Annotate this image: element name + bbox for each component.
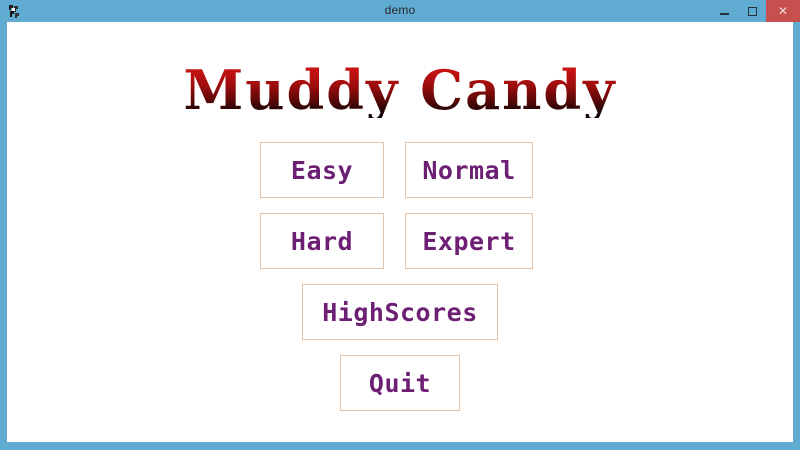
application-window: demo ✕ Muddy Candy Easy Normal Hard Expe…: [0, 0, 800, 450]
window-icon: [6, 3, 22, 19]
menu-button-quit[interactable]: Quit: [340, 355, 460, 411]
menu-button-label: Hard: [291, 227, 353, 256]
menu-button-label: Easy: [291, 156, 353, 185]
maximize-icon: [748, 7, 757, 16]
menu-button-normal[interactable]: Normal: [405, 142, 533, 198]
window-title: demo: [0, 3, 800, 17]
minimize-button[interactable]: [710, 0, 738, 22]
maximize-button[interactable]: [738, 0, 766, 22]
close-button[interactable]: ✕: [766, 0, 800, 22]
menu-button-hard[interactable]: Hard: [260, 213, 384, 269]
menu-button-label: Quit: [369, 369, 431, 398]
menu-button-expert[interactable]: Expert: [405, 213, 533, 269]
title-bar[interactable]: demo ✕: [0, 0, 800, 22]
menu-button-label: Expert: [422, 227, 515, 256]
menu-button-label: HighScores: [322, 298, 478, 327]
close-icon: ✕: [778, 5, 788, 17]
menu-button-label: Normal: [422, 156, 515, 185]
game-title: Muddy Candy: [7, 62, 793, 118]
menu-button-easy[interactable]: Easy: [260, 142, 384, 198]
minimize-icon: [720, 13, 729, 15]
game-client-area: Muddy Candy Easy Normal Hard Expert High…: [7, 22, 793, 442]
menu-button-highscores[interactable]: HighScores: [302, 284, 498, 340]
